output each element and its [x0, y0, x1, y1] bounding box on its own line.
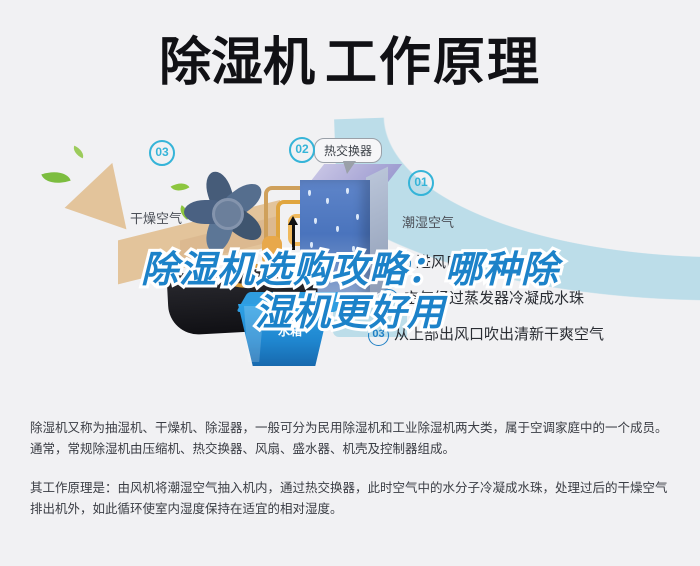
dry-air-arrow-head: [58, 163, 127, 241]
water-droplet: [314, 218, 317, 224]
dehumidifier-diagram: 水箱 热交换器 01 02 03 潮湿空气 干燥空气 01进风口吸入潮湿空气 0…: [0, 120, 700, 400]
water-droplet: [356, 214, 359, 220]
page-root: 除湿机工作原理: [0, 0, 700, 566]
flow-arrow-up-icon: [292, 224, 295, 250]
step-text: 进风口吸入潮湿空气: [416, 254, 551, 271]
page-title-segment-2: 工作原理: [325, 34, 541, 92]
fan-icon: [176, 162, 272, 258]
diagram-steps-list: 01进风口吸入潮湿空气 02空气经过蒸发器冷凝成水珠 03从上部出风口吹出清新干…: [390, 248, 690, 338]
body-paragraph-2: 其工作原理是：由风机将潮湿空气抽入机内，通过热交换器，此时空气中的水分子冷凝成水…: [30, 478, 670, 520]
step-number-badge: 02: [378, 289, 399, 310]
body-paragraph-1: 除湿机又称为抽湿机、干燥机、除湿器，一般可分为民用除湿机和工业除湿机两大类，属于…: [30, 418, 670, 460]
water-tank: 水箱: [238, 292, 346, 372]
humid-air-label: 潮湿空气: [402, 212, 454, 231]
page-title-segment-1: 除湿机: [159, 34, 315, 92]
diagram-step-item: 01进风口吸入潮湿空气: [390, 248, 690, 278]
body-copy: 除湿机又称为抽湿机、干燥机、除湿器，一般可分为民用除湿机和工业除湿机两大类，属于…: [30, 418, 670, 534]
water-droplet: [320, 276, 323, 282]
step-number-badge: 01: [390, 253, 411, 274]
step-text: 从上部出风口吹出清新干爽空气: [394, 326, 604, 343]
water-droplet: [330, 254, 333, 260]
step-number-badge: 03: [368, 325, 389, 346]
water-droplet: [346, 188, 349, 194]
diagram-badge-01: 01: [408, 170, 434, 196]
compressor-drum: [262, 236, 282, 266]
diagram-step-item: 03从上部出风口吹出清新干爽空气: [368, 320, 668, 350]
fan-hub: [212, 198, 244, 230]
water-droplet: [352, 246, 355, 252]
step-text: 空气经过蒸发器冷凝成水珠: [404, 290, 584, 307]
water-droplet: [326, 198, 329, 204]
water-tank-label: 水箱: [260, 322, 320, 339]
page-title: 除湿机工作原理: [0, 28, 700, 98]
diagram-badge-02: 02: [289, 137, 315, 163]
water-droplet: [310, 242, 313, 248]
diagram-badge-03: 03: [149, 140, 175, 166]
dry-air-label: 干燥空气: [130, 208, 182, 227]
water-droplet: [308, 190, 311, 196]
water-droplet: [336, 226, 339, 232]
water-droplet: [344, 280, 347, 286]
heat-exchanger-callout: 热交换器: [314, 138, 382, 163]
diagram-step-item: 02空气经过蒸发器冷凝成水珠: [378, 284, 678, 314]
